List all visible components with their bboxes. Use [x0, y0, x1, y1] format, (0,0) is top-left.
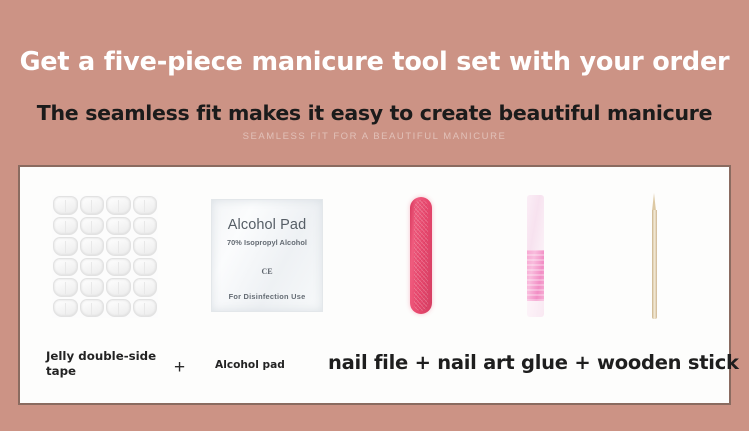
tape-cell — [53, 299, 78, 318]
product-figure-nail-art-glue — [480, 167, 590, 339]
caption-trailing-group: nail file + nail art glue + wooden stick — [328, 351, 739, 376]
tape-cell — [106, 237, 131, 256]
tape-cell — [133, 258, 158, 277]
nail-art-glue-image — [527, 195, 544, 317]
tape-cell — [133, 237, 158, 256]
tape-cell — [80, 196, 105, 215]
promo-banner: Get a five-piece manicure tool set with … — [0, 0, 749, 431]
tape-cell — [133, 278, 158, 297]
tape-cell — [53, 196, 78, 215]
product-figure-jelly-tape — [40, 167, 170, 339]
jelly-tape-sheet-image — [52, 195, 158, 318]
wooden-stick-shaft — [652, 210, 657, 319]
tape-cell — [133, 217, 158, 236]
headline-ghost-subtitle: SEAMLESS FIT FOR A BEAUTIFUL MANICURE — [0, 132, 749, 142]
headline-primary: Get a five-piece manicure tool set with … — [0, 50, 749, 76]
tape-cell — [80, 237, 105, 256]
alcohol-pad-packet-image: Alcohol Pad 70% Isopropyl Alcohol CE For… — [211, 199, 323, 312]
wooden-stick-tip — [652, 193, 656, 211]
tape-cell — [106, 217, 131, 236]
ce-mark-icon: CE — [212, 268, 322, 276]
caption-jelly-tape: Jelly double-side tape — [46, 349, 164, 379]
product-figure-wooden-stick — [598, 167, 713, 339]
headline-block: Get a five-piece manicure tool set with … — [0, 0, 749, 158]
pad-packet-title: Alcohol Pad — [212, 218, 322, 233]
tape-cell — [53, 217, 78, 236]
pad-packet-footer: For Disinfection Use — [212, 293, 322, 300]
product-figure-nail-file — [366, 167, 476, 339]
product-figure-alcohol-pad: Alcohol Pad 70% Isopropyl Alcohol CE For… — [198, 167, 338, 339]
pad-packet-subtitle: 70% Isopropyl Alcohol — [212, 239, 322, 246]
tape-cell — [80, 299, 105, 318]
tape-cell — [53, 237, 78, 256]
tape-cell — [80, 278, 105, 297]
tape-cell — [106, 196, 131, 215]
plus-separator-icon: + — [174, 358, 185, 377]
glue-base — [527, 301, 544, 317]
product-caption-row: Jelly double-side tape + Alcohol pad nai… — [20, 339, 729, 403]
headline-secondary: The seamless fit makes it easy to create… — [0, 103, 749, 124]
wooden-stick-image — [652, 193, 657, 319]
tape-cell — [53, 278, 78, 297]
glue-cap — [527, 195, 544, 250]
product-image-row: Alcohol Pad 70% Isopropyl Alcohol CE For… — [20, 167, 729, 339]
caption-alcohol-pad: Alcohol pad — [215, 359, 345, 373]
tape-cell — [133, 299, 158, 318]
tape-cell — [53, 258, 78, 277]
product-panel: Alcohol Pad 70% Isopropyl Alcohol CE For… — [18, 165, 731, 405]
tape-cell — [80, 217, 105, 236]
tape-cell — [80, 258, 105, 277]
nail-file-image — [410, 197, 432, 314]
glue-body — [527, 250, 544, 301]
tape-cell — [133, 196, 158, 215]
tape-cell — [106, 258, 131, 277]
tape-cell — [106, 299, 131, 318]
tape-cell — [106, 278, 131, 297]
